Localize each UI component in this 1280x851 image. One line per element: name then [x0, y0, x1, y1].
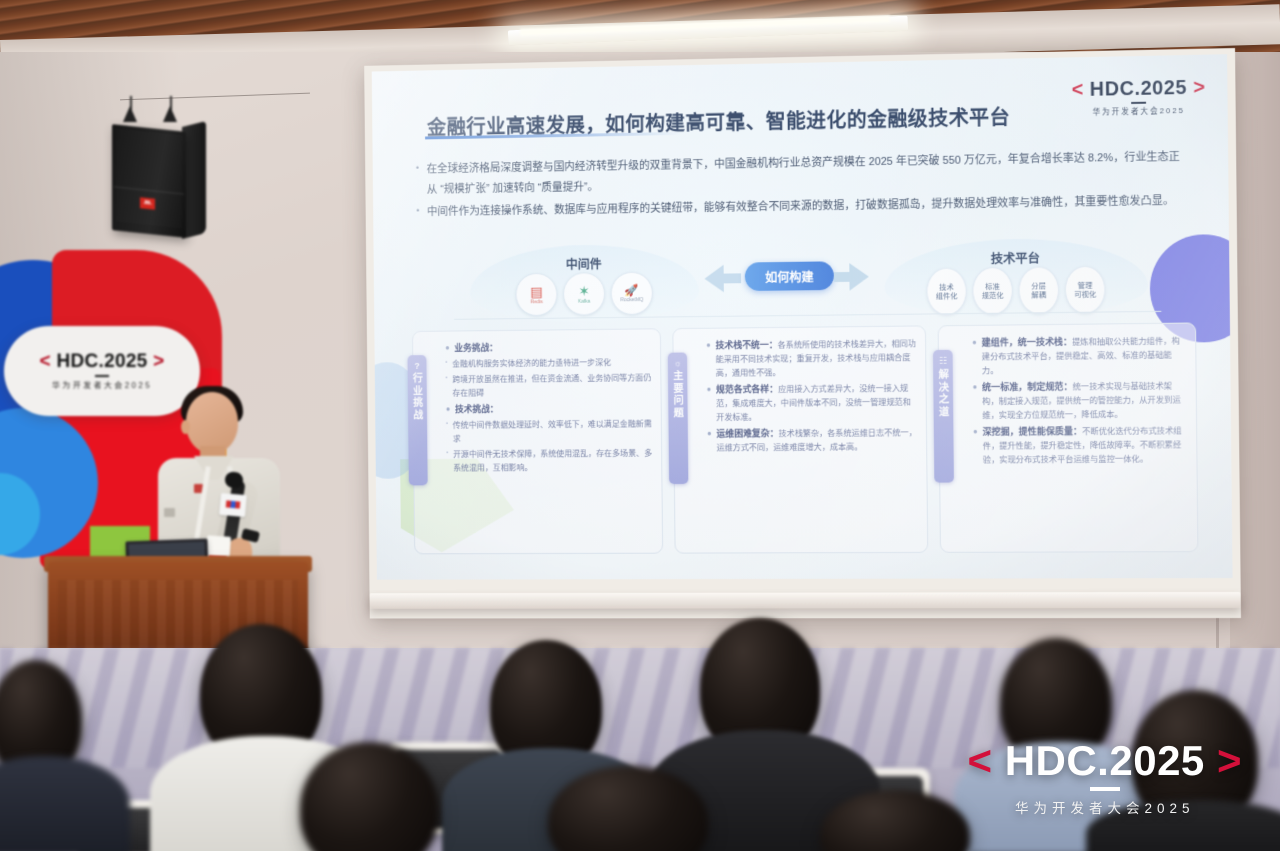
presenter-ear: [181, 420, 190, 434]
platform-chip: 管理 可视化: [1065, 266, 1106, 314]
how-to-build-pill: 如何构建: [745, 261, 834, 291]
conference-photo: JBL 金融行业高速发展，如何构建高可靠、智能进化的金融级技术平台 < HDC.…: [0, 0, 1280, 851]
event-watermark: < HDC.2025 > 华为开发者大会2025: [967, 740, 1242, 817]
panel-list-item: ●规范各式各样：应用接入方式差异大，没统一接入规范，集成难度大，中间件版本不同，…: [707, 381, 919, 425]
panel-item-text: 金融机构服务实体经济的能力亟待进一步深化: [452, 356, 653, 371]
panel-item-text: 建组件，统一技术栈：提炼和抽取公共能力组件，构建分布式技术平台，提供稳定、高效、…: [982, 334, 1188, 379]
panel-main-problems: ☼ 主要问题 ●技术栈不统一：各系统所使用的技术栈差异大，相同功能采用不同技术实…: [672, 325, 928, 553]
panel-list-item: ●建组件，统一技术栈：提炼和抽取公共能力组件，构建分布式技术平台，提供稳定、高效…: [972, 334, 1188, 379]
panel-tab-label: 行业挑战: [412, 373, 422, 422]
bullet-dot-icon: ●: [972, 336, 977, 379]
projection-screen: 金融行业高速发展，如何构建高可靠、智能进化的金融级技术平台 < HDC.2025…: [364, 48, 1241, 618]
wall-mounted-speaker: JBL: [108, 110, 238, 250]
backdrop-logo-dash: [95, 375, 109, 377]
rocketmq-label: RocketMQ: [620, 297, 643, 303]
slide-surface: 金融行业高速发展，如何构建高可靠、智能进化的金融级技术平台 < HDC.2025…: [372, 54, 1233, 579]
panel-item-bold: 规范各式各样：: [716, 384, 778, 394]
jbl-logo: JBL: [140, 197, 155, 210]
panel-item-bold: 技术挑战：: [455, 404, 499, 414]
slide-hdc-logo-text: HDC.2025: [1090, 77, 1188, 101]
slide-hdc-logo-main: < HDC.2025 >: [1071, 77, 1205, 102]
panel-list-item: ●运维困难复杂：技术栈繁杂，各系统运维日志不统一，运维方式不同，运维难度增大，成…: [707, 425, 918, 455]
panel-list-item: ▪开源中间件无技术保障，系统使用混乱，存在多场景、多系统混用，互相影响。: [446, 447, 654, 475]
bullet-dot-icon: ●: [707, 383, 712, 425]
panel-item-bold: 业务挑战：: [454, 343, 498, 353]
panel-item-text: 业务挑战：: [454, 339, 652, 356]
panel-item-text: 规范各式各样：应用接入方式差异大，没统一接入规范，集成难度大，中间件版本不同，没…: [716, 381, 918, 425]
panel-item-bold: 建组件，统一技术栈：: [982, 337, 1072, 348]
speaker-grille: [116, 129, 182, 228]
bullet-dot-icon: ●: [446, 402, 451, 417]
bullet-dot-icon: •: [416, 203, 419, 223]
bullet-dot-icon: ●: [445, 341, 450, 356]
platform-chip: 技术 组件化: [926, 268, 967, 316]
presenter-shirt-logo: [164, 508, 175, 517]
platform-chip-line2: 可视化: [1074, 290, 1096, 300]
redis-icon: ▤: [530, 284, 543, 298]
panel-item-bold: 统一标准，制定规范：: [982, 381, 1072, 392]
watermark-logo-text: HDC.2025: [1005, 737, 1205, 784]
platform-chip: 标准 规范化: [972, 267, 1013, 315]
panel-tab-industry: ? 行业挑战: [408, 355, 428, 485]
microphone-flag-logo: [226, 500, 241, 508]
kafka-label: Kafka: [578, 298, 590, 304]
panel-item-bold: 技术栈不统一：: [716, 340, 778, 350]
bullet-dot-icon: •: [416, 160, 419, 200]
platform-chip-line1: 管理: [1078, 280, 1093, 290]
bracket-right-icon: >: [1193, 77, 1205, 99]
panel-tab-problems: ☼ 主要问题: [668, 353, 689, 485]
rocketmq-chip: 🚀 RocketMQ: [611, 272, 654, 316]
platform-chip-line1: 标准: [985, 281, 1000, 291]
sun-icon: ☼: [673, 358, 681, 368]
slide-bullet-list: • 在全球经济格局深度调整与国内经济转型升级的双重背景下，中国金融机构行业总资产…: [416, 147, 1181, 226]
platform-chip: 分层 解耦: [1018, 266, 1059, 314]
panel-tab-solutions: ☷ 解决之道: [933, 350, 954, 483]
platform-cloud: 技术平台 技术 组件化 标准 规范化 分层 解耦: [884, 237, 1148, 318]
redis-chip: ▤ Redis: [515, 273, 557, 316]
panel-list-item: ●技术挑战：: [446, 401, 653, 417]
panel-list-item: ▪传统中间件数据处理延时、效率低下，难以满足金融新需求: [446, 417, 654, 446]
platform-chip-line2: 组件化: [936, 291, 958, 301]
panel-solutions: ☷ 解决之道 ●建组件，统一技术栈：提炼和抽取公共能力组件，构建分布式技术平台，…: [938, 322, 1199, 552]
panel-list-item: ▪跨境开放虽然在推进，但在资金流通、业务协同等方面仍存在阻碍: [445, 371, 653, 400]
panel-item-text: 传统中间件数据处理延时、效率低下，难以满足金融新需求: [453, 417, 654, 446]
question-icon: ?: [414, 361, 419, 371]
speaker-bracket-right: [163, 106, 177, 122]
bracket-right-icon: >: [153, 351, 164, 372]
bracket-left-icon: <: [39, 351, 50, 372]
panel-industry-challenges: ? 行业挑战 ●业务挑战： ▪金融机构服务实体经济的能力亟待进一步深化 ▪跨境开…: [412, 328, 663, 554]
redis-label: Redis: [530, 299, 542, 305]
screen-bottom-bar: [370, 592, 1241, 609]
bullet-dot-icon: ▪: [445, 373, 447, 400]
watermark-main: < HDC.2025 >: [967, 740, 1242, 782]
panel-list-item: ●技术栈不统一：各系统所使用的技术栈差异大，相同功能采用不同技术实现；重复开发，…: [706, 336, 918, 380]
bracket-right-icon: >: [1217, 737, 1242, 784]
panel-item-bold: 运维困难复杂：: [716, 428, 778, 438]
bullet-dot-icon: ▪: [445, 358, 447, 371]
panel-item-text: 技术栈不统一：各系统所使用的技术栈差异大，相同功能采用不同技术实现；重复开发，技…: [716, 336, 918, 380]
panel-list-item: ●业务挑战：: [445, 339, 652, 356]
middleware-chip-row: ▤ Redis ✶ Kafka 🚀 RocketMQ: [470, 271, 699, 317]
platform-chip-line1: 技术: [939, 282, 954, 292]
bracket-left-icon: <: [967, 737, 992, 784]
watermark-dash: [1090, 787, 1120, 791]
platform-chip-line2: 解耦: [1032, 290, 1047, 300]
panel-item-text: 开源中间件无技术保障，系统使用混乱，存在多场景、多系统混用，互相影响。: [453, 447, 654, 475]
slide-hdc-logo-sub: 华为开发者大会2025: [1072, 105, 1206, 118]
middleware-cloud: 中间件 ▤ Redis ✶ Kafka 🚀 RocketMQ: [470, 243, 700, 322]
microphone-flag: [219, 493, 247, 517]
presenter-head: [186, 392, 238, 454]
platform-chip-row: 技术 组件化 标准 规范化 分层 解耦 管理 可: [884, 265, 1148, 316]
platform-chip-line2: 规范化: [982, 291, 1004, 301]
backdrop-logo-main: < HDC.2025 >: [39, 351, 164, 373]
panel-list-item: ▪金融机构服务实体经济的能力亟待进一步深化: [445, 356, 652, 372]
watermark-sub: 华为开发者大会2025: [967, 797, 1242, 817]
platform-chip-line1: 分层: [1031, 281, 1046, 291]
speaker-bracket-left: [123, 106, 137, 122]
panel-item-text: 运维困难复杂：技术栈繁杂，各系统运维日志不统一，运维方式不同，运维难度增大，成本…: [716, 425, 918, 455]
bullet-dot-icon: ●: [972, 380, 977, 423]
panel-item-text: 深挖掘，提性能保质量：不断优化迭代分布式技术组件，提升性能，提升稳定性，降低故障…: [983, 423, 1189, 467]
slide-panel-row: ? 行业挑战 ●业务挑战： ▪金融机构服务实体经济的能力亟待进一步深化 ▪跨境开…: [412, 322, 1198, 554]
backdrop-logo-sub: 华为开发者大会2025: [52, 380, 152, 391]
rocketmq-icon: 🚀: [625, 284, 639, 296]
panel-item-text: 技术挑战：: [455, 401, 653, 417]
backdrop-logo-text: HDC.2025: [56, 351, 147, 372]
panel-tab-label: 主要问题: [673, 370, 684, 419]
bullet-dot-icon: ▪: [446, 448, 448, 475]
arrow-left-tail: [722, 273, 741, 283]
panel-tab-label: 解决之道: [938, 369, 949, 419]
slide-hdc-logo-dash: [1131, 102, 1146, 104]
key-icon: ☷: [939, 356, 947, 367]
panel-item-bold: 深挖掘，提性能保质量：: [983, 426, 1083, 437]
bullet-dot-icon: ●: [707, 427, 712, 456]
slide-hdc-logo: < HDC.2025 > 华为开发者大会2025: [1071, 77, 1205, 118]
panel-item-text: 统一标准，制定规范：统一技术实现与基础技术架构，制定接入规范，提供统一的管控能力…: [982, 378, 1188, 422]
bracket-left-icon: <: [1071, 79, 1083, 101]
slide-diagram: 中间件 ▤ Redis ✶ Kafka 🚀 RocketMQ: [417, 237, 1192, 331]
bullet-dot-icon: ●: [973, 425, 978, 468]
kafka-chip: ✶ Kafka: [563, 272, 605, 316]
arrow-right-icon: [849, 263, 869, 291]
panel-list-item: ●深挖掘，提性能保质量：不断优化迭代分布式技术组件，提升性能，提升稳定性，降低故…: [973, 423, 1189, 467]
panel-item-text: 跨境开放虽然在推进，但在资金流通、业务协同等方面仍存在阻碍: [452, 371, 653, 400]
kafka-icon: ✶: [578, 284, 589, 298]
bullet-dot-icon: ●: [706, 339, 711, 381]
panel-list-item: ●统一标准，制定规范：统一技术实现与基础技术架构，制定接入规范，提供统一的管控能…: [972, 378, 1188, 422]
bullet-dot-icon: ▪: [446, 419, 448, 446]
